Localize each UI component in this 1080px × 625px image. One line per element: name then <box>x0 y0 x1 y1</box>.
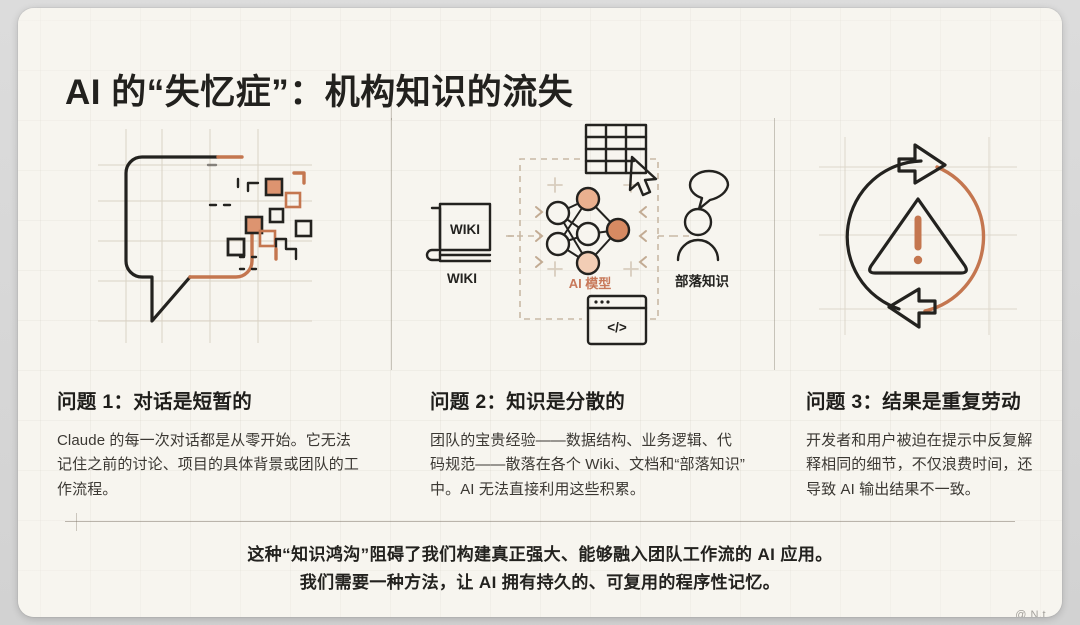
code-window-icon: </> <box>588 296 646 344</box>
tribal-knowledge-label: 部落知识 <box>675 273 729 289</box>
person-icon <box>678 209 718 260</box>
columns-container: 问题 1：对话是短暂的 Claude 的每一次对话都是从零开始。它无法记住之前的… <box>18 108 1062 517</box>
column-2-heading: 问题 2：知识是分散的 <box>430 385 746 414</box>
cursor-icon <box>630 157 656 195</box>
wiki-book-icon: WIKI <box>427 204 490 261</box>
ai-model-label: AI 模型 <box>569 276 612 291</box>
column-3-heading: 问题 3：结果是重复劳动 <box>806 385 1034 414</box>
speech-bubble-svg <box>90 121 320 351</box>
illustration-scattered-knowledge: WIKI WIKI <box>419 108 746 363</box>
column-1-body: Claude 的每一次对话都是从零开始。它无法记住之前的讨论、项目的具体背景或团… <box>57 429 363 502</box>
footer-line-2: 我们需要一种方法，让 AI 拥有持久的、可复用的程序性记忆。 <box>18 569 1062 597</box>
warning-exclaim-dot <box>914 255 922 263</box>
illustration-repeat-cycle-warning <box>802 108 1034 363</box>
spreadsheet-icon <box>586 125 646 173</box>
dissolve-fragments <box>208 165 311 269</box>
column-1: 问题 1：对话是短暂的 Claude 的每一次对话都是从零开始。它无法记住之前的… <box>18 108 391 517</box>
column-2: WIKI WIKI <box>391 108 774 517</box>
slide-card: AI 的“失忆症”：机构知识的流失 <box>18 8 1062 617</box>
column-2-body: 团队的宝贵经验——数据结构、业务逻辑、代码规范——散落在各个 Wiki、文档和“… <box>430 429 746 502</box>
cycle-warning-svg <box>813 131 1023 341</box>
cycle-arc-clay <box>925 167 984 311</box>
knowledge-diagram-svg: WIKI WIKI <box>410 111 755 361</box>
neural-network-icon <box>547 188 629 274</box>
slide-root: AI 的“失忆症”：机构知识的流失 <box>0 0 1080 625</box>
footer-summary: 这种“知识鸿沟”阻碍了我们构建真正强大、能够融入团队工作流的 AI 应用。 我们… <box>18 541 1062 596</box>
wiki-book-text: WIKI <box>450 222 480 237</box>
footer-line-1: 这种“知识鸿沟”阻碍了我们构建真正强大、能够融入团队工作流的 AI 应用。 <box>18 541 1062 569</box>
code-glyph: </> <box>607 320 627 335</box>
speech-bubble-icon <box>690 171 728 209</box>
column-3-body: 开发者和用户被迫在提示中反复解释相同的细节，不仅浪费时间，还导致 AI 输出结果… <box>806 429 1034 502</box>
column-1-heading: 问题 1：对话是短暂的 <box>57 385 363 414</box>
footer-divider <box>65 521 1015 522</box>
column-3: 问题 3：结果是重复劳动 开发者和用户被迫在提示中反复解释相同的细节，不仅浪费时… <box>774 108 1062 517</box>
watermark: @ N.t <box>1015 609 1046 617</box>
bubble-outline-dark <box>126 157 218 321</box>
illustration-dissolving-speech-bubble <box>46 108 363 363</box>
wiki-label: WIKI <box>447 271 477 286</box>
